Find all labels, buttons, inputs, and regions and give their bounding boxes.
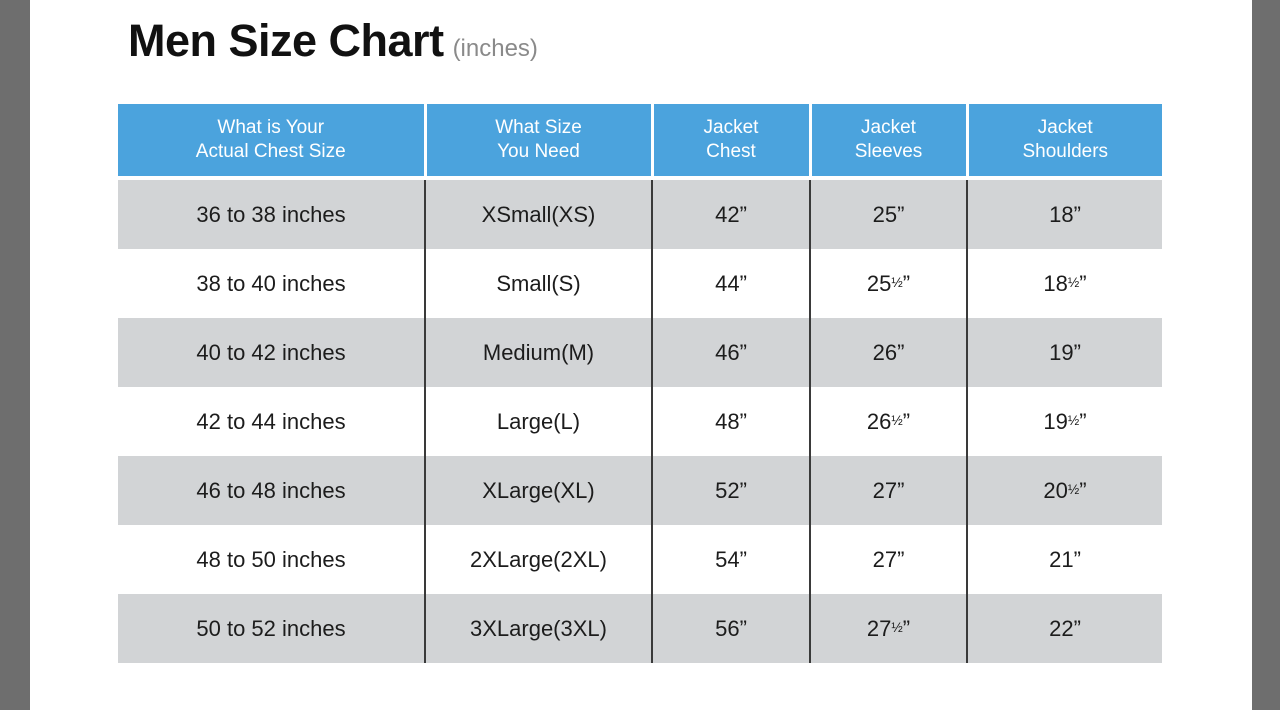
cell-jacket-chest: 44” <box>652 249 810 318</box>
half-fraction-glyph: ½ <box>891 274 902 289</box>
letterbox-bar-left <box>0 0 30 710</box>
screenshot-stage: Men Size Chart (inches) What is Your Act… <box>0 0 1280 710</box>
table-row: 50 to 52 inches3XLarge(3XL)56”27½”22” <box>118 594 1162 663</box>
inch-mark-glyph: ” <box>1079 409 1086 434</box>
cell-jacket-sleeves: 27” <box>810 525 967 594</box>
cell-chest-size: 38 to 40 inches <box>118 249 425 318</box>
table-row: 46 to 48 inchesXLarge(XL)52”27”20½” <box>118 456 1162 525</box>
cell-size-needed: 2XLarge(2XL) <box>425 525 652 594</box>
cell-size-needed: Small(S) <box>425 249 652 318</box>
size-chart-table: What is Your Actual Chest Size What Size… <box>118 104 1162 663</box>
half-fraction-glyph: ½ <box>1068 481 1079 496</box>
table-header-row: What is Your Actual Chest Size What Size… <box>118 104 1162 178</box>
cell-chest-size: 48 to 50 inches <box>118 525 425 594</box>
cell-jacket-sleeves: 25” <box>810 178 967 249</box>
cell-jacket-chest: 42” <box>652 178 810 249</box>
cell-chest-size: 42 to 44 inches <box>118 387 425 456</box>
page-title-unit: (inches) <box>453 37 538 61</box>
column-header-line2: You Need <box>427 140 651 164</box>
column-header-size-you-need: What Size You Need <box>425 104 652 178</box>
cell-size-needed: 3XLarge(3XL) <box>425 594 652 663</box>
column-header-jacket-chest: Jacket Chest <box>652 104 810 178</box>
cell-jacket-sleeves: 26” <box>810 318 967 387</box>
inch-mark-glyph: ” <box>1079 271 1086 296</box>
cell-jacket-sleeves: 27½” <box>810 594 967 663</box>
column-header-jacket-shoulders: Jacket Shoulders <box>967 104 1162 178</box>
cell-jacket-sleeves: 26½” <box>810 387 967 456</box>
half-fraction-glyph: ½ <box>1068 274 1079 289</box>
column-header-jacket-sleeves: Jacket Sleeves <box>810 104 967 178</box>
cell-chest-size: 50 to 52 inches <box>118 594 425 663</box>
half-fraction-glyph: ½ <box>891 412 902 427</box>
cell-jacket-shoulders: 20½” <box>967 456 1162 525</box>
cell-size-needed: XSmall(XS) <box>425 178 652 249</box>
cell-jacket-chest: 56” <box>652 594 810 663</box>
column-header-line1: Jacket <box>654 116 809 140</box>
cell-jacket-shoulders: 19½” <box>967 387 1162 456</box>
table-row: 42 to 44 inchesLarge(L)48”26½”19½” <box>118 387 1162 456</box>
column-header-line2: Shoulders <box>969 140 1163 164</box>
cell-jacket-chest: 54” <box>652 525 810 594</box>
cell-jacket-chest: 52” <box>652 456 810 525</box>
table-row: 48 to 50 inches2XLarge(2XL)54”27”21” <box>118 525 1162 594</box>
cell-size-needed: XLarge(XL) <box>425 456 652 525</box>
cell-size-needed: Medium(M) <box>425 318 652 387</box>
half-fraction-glyph: ½ <box>891 619 902 634</box>
column-header-line1: What is Your <box>118 116 424 140</box>
column-header-line1: Jacket <box>969 116 1163 140</box>
cell-jacket-shoulders: 19” <box>967 318 1162 387</box>
column-header-line2: Chest <box>654 140 809 164</box>
cell-jacket-chest: 48” <box>652 387 810 456</box>
cell-jacket-shoulders: 22” <box>967 594 1162 663</box>
table-body: 36 to 38 inchesXSmall(XS)42”25”18”38 to … <box>118 178 1162 663</box>
cell-jacket-shoulders: 18” <box>967 178 1162 249</box>
page-title: Men Size Chart (inches) <box>128 18 538 63</box>
inch-mark-glyph: ” <box>1079 478 1086 503</box>
column-header-line1: Jacket <box>812 116 966 140</box>
letterbox-bar-right <box>1252 0 1280 710</box>
cell-jacket-sleeves: 27” <box>810 456 967 525</box>
cell-jacket-shoulders: 21” <box>967 525 1162 594</box>
cell-chest-size: 36 to 38 inches <box>118 178 425 249</box>
column-header-line2: Actual Chest Size <box>118 140 424 164</box>
size-chart-page: Men Size Chart (inches) What is Your Act… <box>30 0 1252 710</box>
cell-jacket-shoulders: 18½” <box>967 249 1162 318</box>
cell-chest-size: 40 to 42 inches <box>118 318 425 387</box>
table-row: 38 to 40 inchesSmall(S)44”25½”18½” <box>118 249 1162 318</box>
column-header-actual-chest-size: What is Your Actual Chest Size <box>118 104 425 178</box>
page-title-main: Men Size Chart <box>128 18 444 63</box>
table-header: What is Your Actual Chest Size What Size… <box>118 104 1162 178</box>
inch-mark-glyph: ” <box>903 271 910 296</box>
inch-mark-glyph: ” <box>903 616 910 641</box>
table-row: 40 to 42 inchesMedium(M)46”26”19” <box>118 318 1162 387</box>
cell-jacket-chest: 46” <box>652 318 810 387</box>
cell-jacket-sleeves: 25½” <box>810 249 967 318</box>
cell-size-needed: Large(L) <box>425 387 652 456</box>
cell-chest-size: 46 to 48 inches <box>118 456 425 525</box>
inch-mark-glyph: ” <box>903 409 910 434</box>
column-header-line1: What Size <box>427 116 651 140</box>
column-header-line2: Sleeves <box>812 140 966 164</box>
table-row: 36 to 38 inchesXSmall(XS)42”25”18” <box>118 178 1162 249</box>
half-fraction-glyph: ½ <box>1068 412 1079 427</box>
